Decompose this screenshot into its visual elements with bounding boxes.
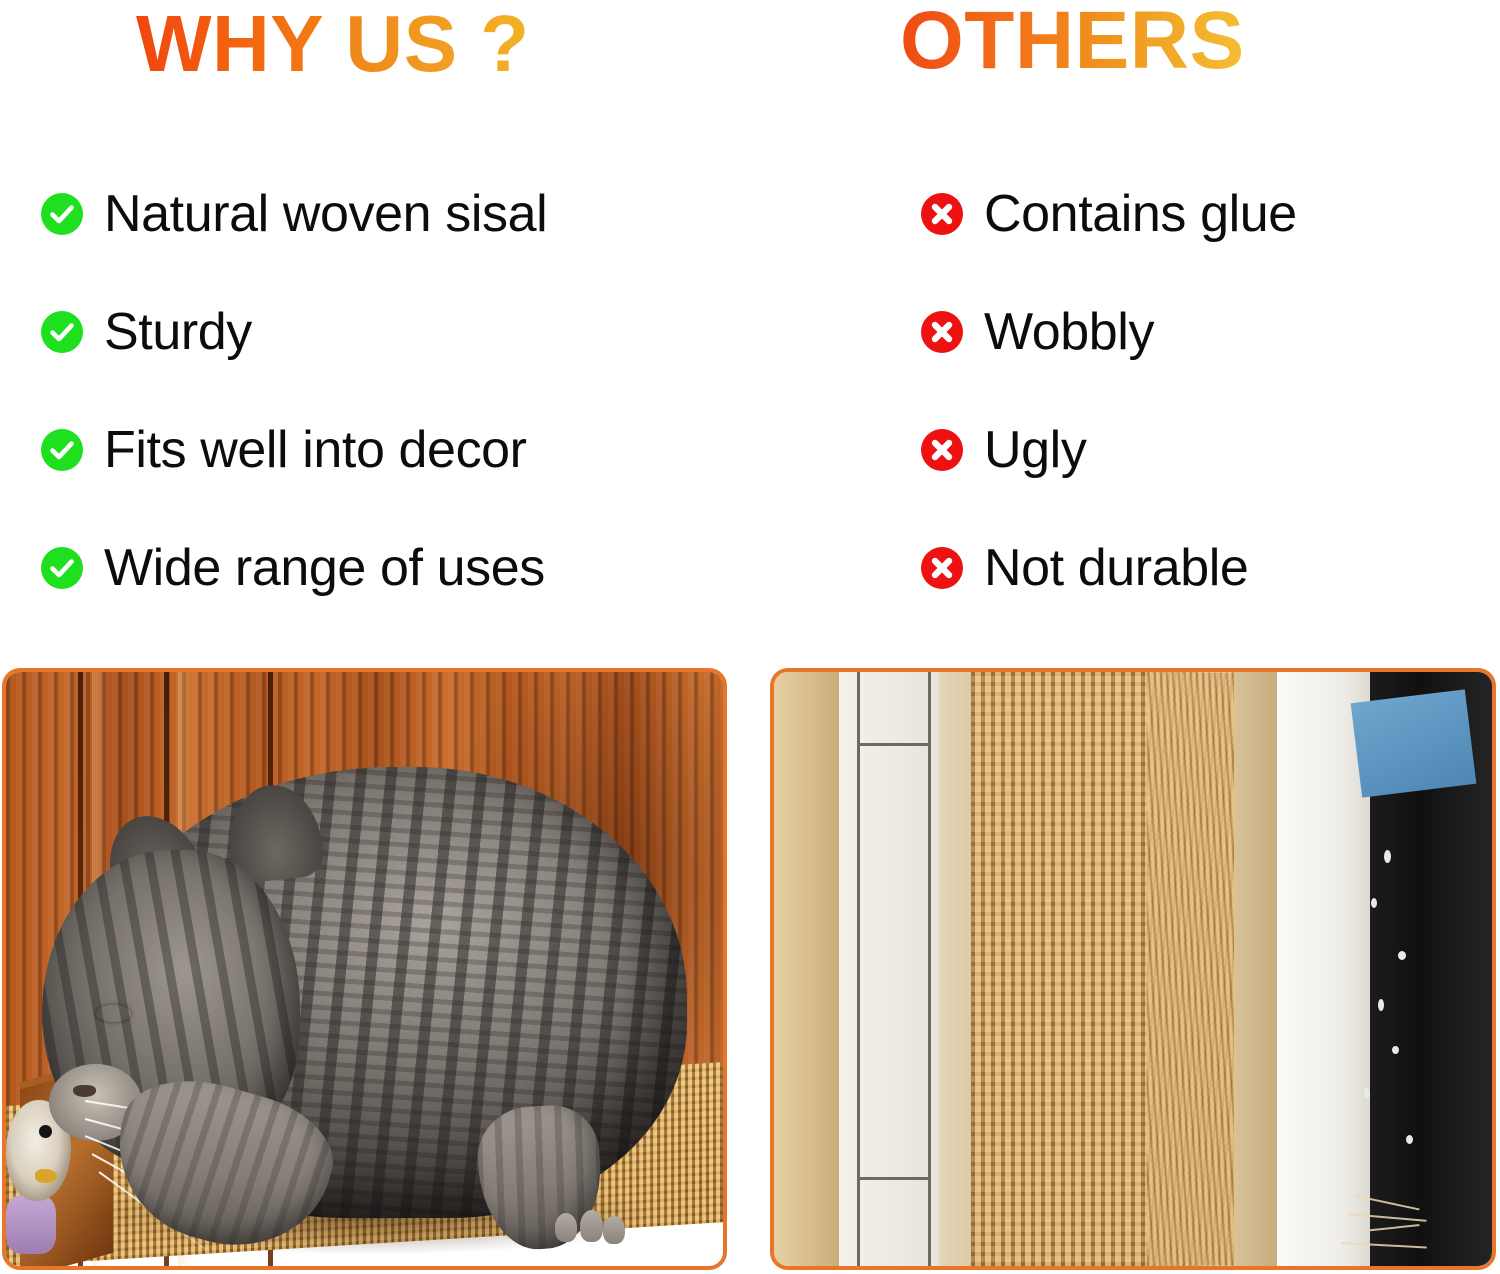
wood-trim-strip bbox=[1234, 672, 1277, 1266]
cons-photo-content bbox=[774, 672, 1492, 1266]
check-circle-icon bbox=[40, 192, 84, 236]
list-item: Ugly bbox=[920, 416, 1460, 484]
list-item-label: Sturdy bbox=[104, 306, 252, 358]
blue-tape bbox=[1350, 689, 1476, 797]
check-circle-icon bbox=[40, 428, 84, 472]
x-circle-icon bbox=[920, 428, 964, 472]
comparison-infographic: WHY US ? OTHERS Natural woven sisal Stur… bbox=[0, 0, 1500, 1274]
paint-speck bbox=[1398, 951, 1406, 960]
x-circle-icon bbox=[920, 192, 964, 236]
list-item-label: Wide range of uses bbox=[104, 542, 545, 594]
white-door-frame bbox=[1277, 672, 1370, 1266]
list-item: Wobbly bbox=[920, 298, 1460, 366]
list-item: Sturdy bbox=[40, 298, 740, 366]
x-circle-icon bbox=[920, 310, 964, 354]
x-circle-icon bbox=[920, 546, 964, 590]
cons-feature-list: Contains glue Wobbly Ugly Not durable bbox=[920, 180, 1460, 602]
list-item: Not durable bbox=[920, 534, 1460, 602]
door-jamb-wood bbox=[774, 672, 839, 1266]
list-item-label: Wobbly bbox=[984, 306, 1154, 358]
pros-photo-content bbox=[6, 672, 723, 1266]
paint-speck bbox=[1371, 898, 1377, 908]
list-item-label: Contains glue bbox=[984, 188, 1297, 240]
cons-column-title: OTHERS bbox=[900, 0, 1245, 82]
pros-feature-list: Natural woven sisal Sturdy Fits well int… bbox=[40, 180, 740, 602]
list-item: Natural woven sisal bbox=[40, 180, 740, 248]
purple-object bbox=[6, 1195, 56, 1254]
cat-toe bbox=[603, 1216, 625, 1245]
panel-edge-line bbox=[928, 672, 931, 1266]
cat-toe bbox=[580, 1210, 603, 1242]
check-circle-icon bbox=[40, 310, 84, 354]
pros-column-title: WHY US ? bbox=[136, 4, 530, 84]
list-item-label: Fits well into decor bbox=[104, 424, 527, 476]
toy-beak bbox=[35, 1169, 57, 1183]
list-item-label: Ugly bbox=[984, 424, 1086, 476]
panel-cross-line bbox=[857, 1177, 929, 1180]
cons-photo bbox=[770, 668, 1496, 1270]
cat-nose bbox=[73, 1085, 96, 1097]
paint-speck bbox=[1364, 1088, 1370, 1099]
list-item: Contains glue bbox=[920, 180, 1460, 248]
pros-photo bbox=[2, 668, 727, 1270]
paint-speck bbox=[1392, 1046, 1399, 1054]
list-item: Wide range of uses bbox=[40, 534, 740, 602]
list-item: Fits well into decor bbox=[40, 416, 740, 484]
check-circle-icon bbox=[40, 546, 84, 590]
list-item-label: Natural woven sisal bbox=[104, 188, 547, 240]
cat-toe bbox=[555, 1213, 578, 1243]
panel-cross-line bbox=[857, 743, 929, 746]
list-item-label: Not durable bbox=[984, 542, 1248, 594]
